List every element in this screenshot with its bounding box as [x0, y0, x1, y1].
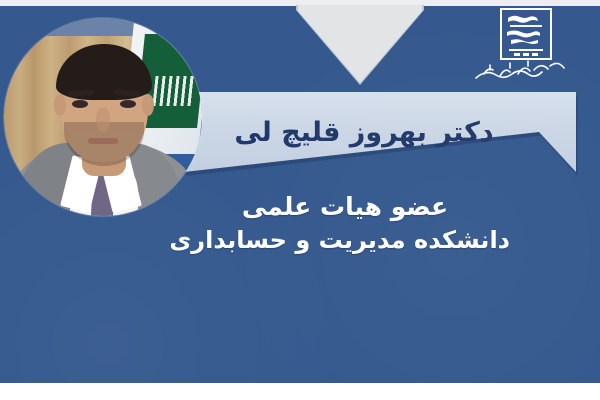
person-role: عضو هیات علمی: [180, 190, 510, 224]
subtitle-block: عضو هیات علمی دانشکده مدیریت و حسابداری: [180, 190, 510, 257]
portrait-ear-right: [142, 94, 154, 116]
university-logo-svg: [470, 8, 588, 88]
portrait-mouth: [88, 138, 118, 144]
user-portrait-icon: [4, 18, 202, 216]
portrait-eye-left: [72, 100, 88, 108]
portrait-eye-right: [120, 100, 136, 108]
portrait-nose: [96, 108, 110, 132]
university-logo-icon: [470, 8, 588, 88]
person-name: دکتر بهروز قلیچ لی: [184, 92, 544, 172]
bottom-white-band: [0, 383, 600, 400]
portrait-ear-left: [54, 94, 66, 116]
person-department: دانشکده مدیریت و حسابداری: [180, 224, 510, 257]
portrait-flag-emblem: [152, 76, 195, 106]
profile-card: دکتر بهروز قلیچ لی عضو هیات علمی دانشکده…: [0, 0, 600, 400]
